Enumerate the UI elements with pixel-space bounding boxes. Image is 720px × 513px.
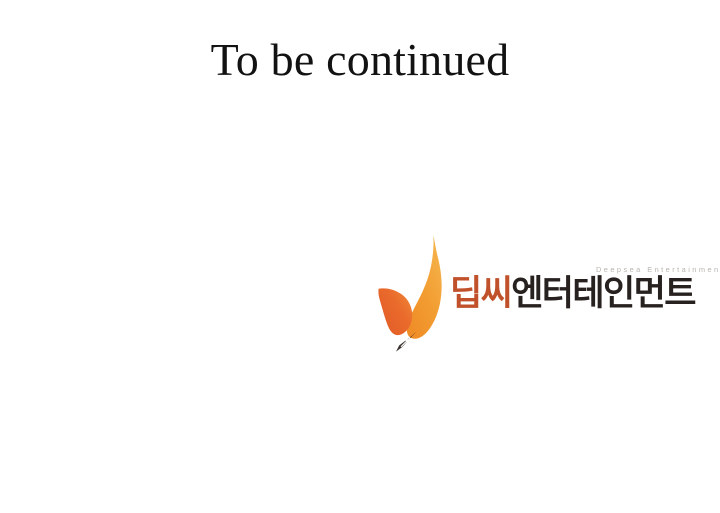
pen-nib-slit bbox=[401, 338, 410, 347]
end-card-page: To be continued bbox=[0, 0, 720, 513]
to-be-continued-text: To be continued bbox=[211, 36, 510, 84]
studio-logo: Deepsea Entertainment 딥씨엔터테인먼트 bbox=[376, 232, 666, 354]
pen-nib-vent bbox=[406, 339, 409, 342]
logo-brand-hangul: 딥씨 bbox=[450, 274, 511, 314]
logo-tagline: Deepsea Entertainment bbox=[596, 266, 720, 273]
logo-wordmark: Deepsea Entertainment 딥씨엔터테인먼트 bbox=[450, 266, 666, 328]
logo-hangul-lockup: 딥씨엔터테인먼트 bbox=[450, 277, 695, 312]
page-title: To be continued bbox=[0, 36, 720, 84]
logo-word-hangul: 엔터테인먼트 bbox=[511, 274, 695, 314]
flame-right-shape bbox=[407, 235, 442, 339]
flame-pen-nib-icon bbox=[376, 232, 458, 354]
flame-pen-nib-svg bbox=[376, 232, 458, 354]
flame-left-petal-shape bbox=[378, 288, 412, 335]
